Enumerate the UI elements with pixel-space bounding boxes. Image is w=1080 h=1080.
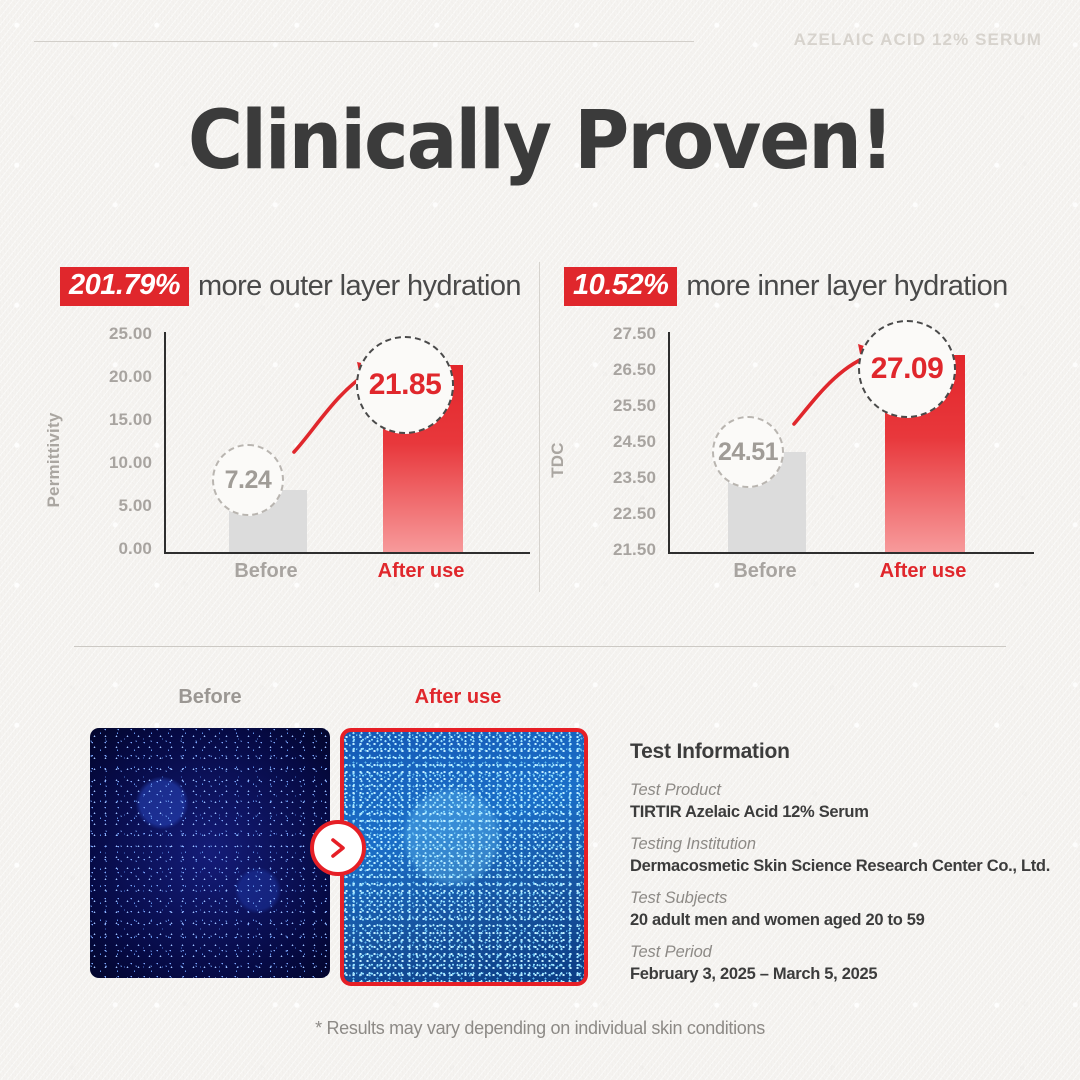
y-axis-title-left: Permittivity <box>44 413 64 508</box>
y-tick: 24.50 <box>613 432 656 452</box>
y-tick: 5.00 <box>119 496 153 516</box>
skin-image-after <box>340 728 588 986</box>
plot-left: Permittivity 25.00 20.00 15.00 10.00 5.0… <box>60 332 530 554</box>
info-key: Test Subjects <box>630 889 1050 908</box>
y-tick: 15.00 <box>109 410 152 430</box>
stat-text-left: more outer layer hydration <box>198 270 521 303</box>
y-tick: 27.50 <box>613 324 656 344</box>
y-tick: 22.50 <box>613 504 656 524</box>
stat-text-right: more inner layer hydration <box>686 270 1007 303</box>
photo-label-before: Before <box>178 686 241 709</box>
y-axis-ticks-left: 25.00 20.00 15.00 10.00 5.00 0.00 <box>80 332 158 554</box>
y-tick: 25.50 <box>613 396 656 416</box>
value-bubble-after-right: 27.09 <box>858 320 956 418</box>
info-row: Test Period February 3, 2025 – March 5, … <box>630 943 1050 984</box>
page-title: Clinically Proven! <box>38 101 1042 182</box>
y-axis-title-right: TDC <box>548 442 568 478</box>
y-tick: 25.00 <box>109 324 152 344</box>
y-axis-ticks-right: 27.50 26.50 25.50 24.50 23.50 22.50 21.5… <box>584 332 662 554</box>
increase-arrow-left <box>164 332 530 554</box>
y-tick: 26.50 <box>613 360 656 380</box>
info-key: Test Period <box>630 943 1050 962</box>
x-axis-labels-right: Before After use <box>668 560 1034 590</box>
y-tick: 23.50 <box>613 468 656 488</box>
value-bubble-before-left: 7.24 <box>212 444 284 516</box>
info-row: Test Subjects 20 adult men and women age… <box>630 889 1050 930</box>
chart-inner-layer-hydration: 10.52% more inner layer hydration TDC 27… <box>548 262 1048 602</box>
chevron-right-icon[interactable] <box>310 820 366 876</box>
photo-label-after: After use <box>415 686 502 709</box>
product-eyebrow: AZELAIC ACID 12% SERUM <box>794 30 1042 50</box>
disclaimer-footnote: * Results may vary depending on individu… <box>0 1018 1080 1039</box>
chart-headline-right: 10.52% more inner layer hydration <box>564 267 1008 306</box>
info-value: TIRTIR Azelaic Acid 12% Serum <box>630 803 1050 822</box>
info-value: Dermacosmetic Skin Science Research Cent… <box>630 857 1050 876</box>
chevron-right-glyph <box>328 837 348 859</box>
chart-outer-layer-hydration: 201.79% more outer layer hydration Permi… <box>44 262 544 602</box>
test-information-title: Test Information <box>630 740 1050 764</box>
plot-right: TDC 27.50 26.50 25.50 24.50 23.50 22.50 … <box>564 332 1034 554</box>
section-divider <box>74 646 1006 647</box>
x-axis-labels-left: Before After use <box>164 560 530 590</box>
x-label-before-left: Before <box>234 560 297 583</box>
value-bubble-before-right: 24.51 <box>712 416 784 488</box>
value-bubble-after-left: 21.85 <box>356 336 454 434</box>
x-label-after-left: After use <box>378 560 465 583</box>
skin-image-before <box>90 728 330 978</box>
info-value: February 3, 2025 – March 5, 2025 <box>630 965 1050 984</box>
test-information-panel: Test Information Test Product TIRTIR Aze… <box>630 740 1050 997</box>
info-row: Testing Institution Dermacosmetic Skin S… <box>630 835 1050 876</box>
header-rule <box>34 41 694 42</box>
info-row: Test Product TIRTIR Azelaic Acid 12% Ser… <box>630 781 1050 822</box>
before-after-photos: Before After use <box>90 686 580 978</box>
info-value: 20 adult men and women aged 20 to 59 <box>630 911 1050 930</box>
y-tick: 21.50 <box>613 540 656 560</box>
y-tick: 20.00 <box>109 367 152 387</box>
x-label-after-right: After use <box>880 560 967 583</box>
stat-badge-right: 10.52% <box>564 267 677 306</box>
y-tick: 10.00 <box>109 453 152 473</box>
charts-section: 201.79% more outer layer hydration Permi… <box>0 262 1080 602</box>
chart-headline-left: 201.79% more outer layer hydration <box>60 267 521 306</box>
stat-badge-left: 201.79% <box>60 267 189 306</box>
x-label-before-right: Before <box>733 560 796 583</box>
info-key: Testing Institution <box>630 835 1050 854</box>
info-key: Test Product <box>630 781 1050 800</box>
y-tick: 0.00 <box>119 539 153 559</box>
